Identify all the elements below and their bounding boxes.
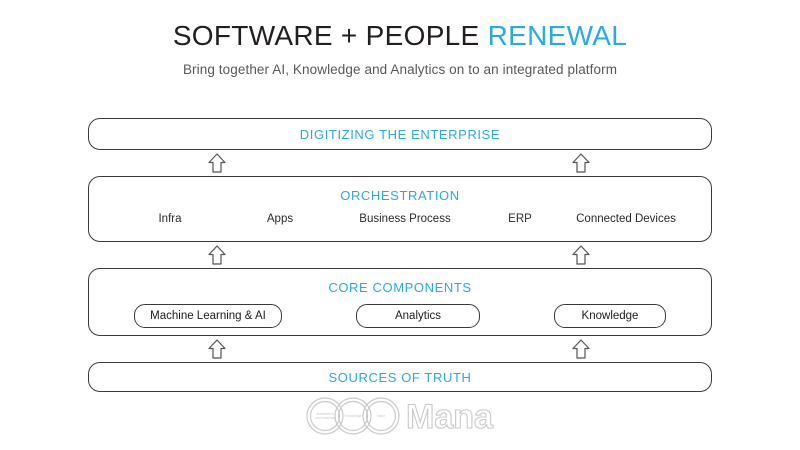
layer-orchestration-title: ORCHESTRATION	[89, 188, 711, 203]
layer-sources-of-truth[interactable]: SOURCES OF TRUTH	[88, 362, 712, 392]
up-arrow-icon	[570, 338, 592, 360]
layer-core-components[interactable]: CORE COMPONENTS Machine Learning & AI An…	[88, 268, 712, 336]
orchestration-item-business-process[interactable]: Business Process	[335, 213, 475, 225]
connector-orchestration-to-enterprise	[88, 150, 712, 176]
up-arrow-icon	[206, 152, 228, 174]
up-arrow-icon	[570, 244, 592, 266]
page-subtitle: Bring together AI, Knowledge and Analyti…	[0, 62, 800, 77]
orchestration-item-list: Infra Apps Business Process ERP Connecte…	[89, 213, 711, 225]
core-components-list: Machine Learning & AI Analytics Knowledg…	[89, 304, 711, 328]
layer-enterprise[interactable]: DIGITIZING THE ENTERPRISE	[88, 118, 712, 150]
layer-enterprise-title: DIGITIZING THE ENTERPRISE	[300, 127, 500, 142]
up-arrow-icon	[206, 338, 228, 360]
orchestration-item-connected-devices[interactable]: Connected Devices	[565, 213, 687, 225]
layer-sources-of-truth-title: SOURCES OF TRUTH	[329, 370, 472, 385]
connector-core-to-orchestration	[88, 242, 712, 268]
orchestration-item-infra[interactable]: Infra	[115, 213, 225, 225]
orchestration-item-erp[interactable]: ERP	[475, 213, 565, 225]
page-title: SOFTWARE + PEOPLE RENEWAL	[0, 20, 800, 52]
circle-label-analytics: and Analytics	[315, 416, 335, 420]
architecture-diagram: DIGITIZING THE ENTERPRISE ORCHESTRATION …	[88, 118, 712, 392]
page-title-accent: RENEWAL	[488, 20, 628, 51]
core-component-knowledge[interactable]: Knowledge	[554, 304, 666, 328]
circle-label-value: Value	[377, 414, 386, 418]
up-arrow-icon	[570, 152, 592, 174]
connector-sources-to-core	[88, 336, 712, 362]
page-title-main: SOFTWARE + PEOPLE	[173, 20, 480, 51]
brand-wordmark: Mana	[404, 396, 496, 441]
orchestration-item-apps[interactable]: Apps	[225, 213, 335, 225]
core-component-analytics[interactable]: Analytics	[356, 304, 480, 328]
layer-core-components-title: CORE COMPONENTS	[89, 280, 711, 295]
up-arrow-icon	[206, 244, 228, 266]
three-circles-icon: Automation and Analytics Knowledge Value	[304, 396, 402, 441]
brand-wordmark-text: Mana	[406, 398, 494, 436]
page-header: SOFTWARE + PEOPLE RENEWAL Bring together…	[0, 0, 800, 77]
circle-label-knowledge: Knowledge	[345, 414, 362, 418]
layer-orchestration[interactable]: ORCHESTRATION Infra Apps Business Proces…	[88, 176, 712, 242]
brand-logo: Automation and Analytics Knowledge Value…	[0, 396, 800, 441]
core-component-machine-learning-ai[interactable]: Machine Learning & AI	[134, 304, 282, 328]
